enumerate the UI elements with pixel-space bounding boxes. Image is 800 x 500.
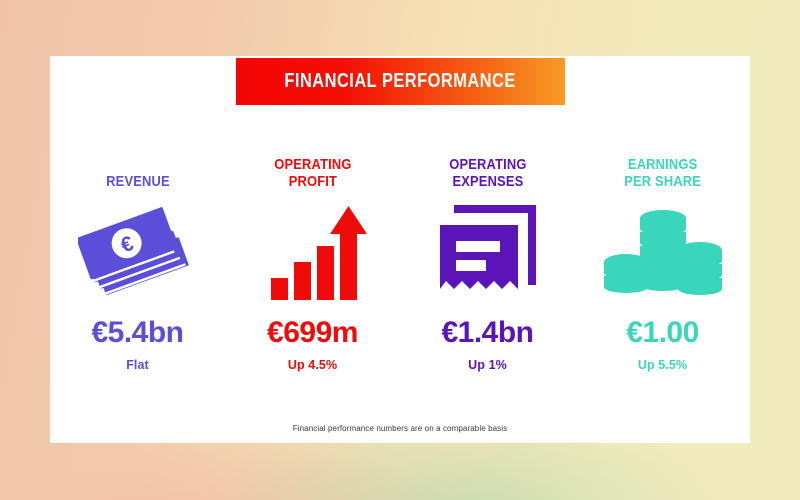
metric-label-line1: OPERATING [274, 156, 351, 173]
metric-delta-operating-expenses: Up 1% [468, 358, 507, 372]
metric-label-operating-profit: OPERATING PROFIT [274, 142, 351, 190]
metric-delta-earnings-per-share: Up 5.5% [638, 358, 687, 372]
metric-label-line1: REVENUE [106, 173, 170, 190]
metrics-row: REVENUE € [50, 142, 750, 392]
metric-delta-revenue: Flat [126, 358, 149, 372]
metric-label-revenue: REVENUE [106, 142, 170, 190]
footnote-text: Financial performance numbers are on a c… [50, 424, 750, 433]
page-title: FINANCIAL PERFORMANCE [285, 70, 516, 93]
metric-label-operating-expenses: OPERATING EXPENSES [449, 142, 526, 190]
metric-delta-operating-profit: Up 4.5% [288, 358, 337, 372]
growth-bars-arrow-icon [248, 200, 378, 308]
metric-label-line2: EXPENSES [452, 173, 523, 190]
metric-card-earnings-per-share: EARNINGS PER SHARE [575, 142, 750, 392]
metric-value-operating-expenses: €1.4bn [441, 316, 533, 350]
metric-label-line1: EARNINGS [628, 156, 697, 173]
metric-value-operating-profit: €699m [267, 316, 358, 350]
metric-value-earnings-per-share: €1.00 [626, 316, 699, 350]
coin-stacks-icon [598, 200, 728, 308]
banknotes-icon: € [73, 200, 203, 308]
metric-value-revenue: €5.4bn [91, 316, 183, 350]
metric-card-revenue: REVENUE € [50, 142, 225, 392]
metric-label-line1: OPERATING [449, 156, 526, 173]
metric-card-operating-expenses: OPERATING EXPENSES €1.4bn Up 1% [400, 142, 575, 392]
metric-card-operating-profit: OPERATING PROFIT €699m Up 4.5% [225, 142, 400, 392]
metric-label-earnings-per-share: EARNINGS PER SHARE [624, 142, 701, 190]
metric-label-line2: PROFIT [288, 173, 336, 190]
infographic-card: FINANCIAL PERFORMANCE REVENUE € [50, 56, 750, 443]
banner-financial-performance: FINANCIAL PERFORMANCE [236, 58, 565, 105]
metric-label-line2: PER SHARE [624, 173, 701, 190]
receipt-icon [423, 200, 553, 308]
